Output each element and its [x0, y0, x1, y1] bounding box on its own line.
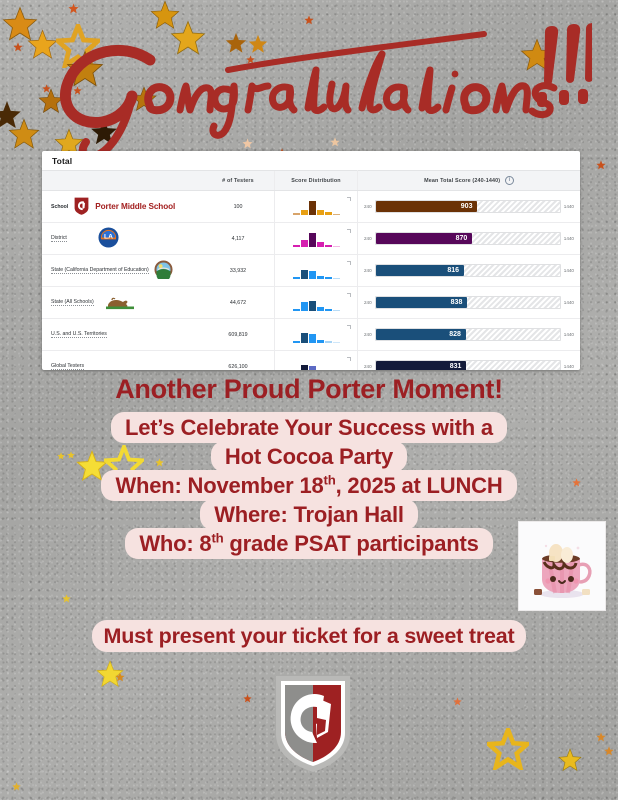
row-distribution: [275, 287, 358, 319]
score-report-card: Total # of Testers Score Distribution Me…: [42, 151, 580, 370]
distribution-mini-chart: [276, 230, 356, 247]
axis-min-label: 240: [364, 236, 372, 241]
mean-score-fill: 816: [376, 265, 464, 276]
table-row: U.S. and U.S. Territories 609,819: [42, 319, 580, 351]
gold-star-icon: [131, 86, 157, 112]
porter-shield-logo: [73, 196, 90, 218]
row-entity-cell: Global Testers: [42, 351, 202, 371]
report-title: Total: [42, 151, 580, 170]
detail-line-cocoa-party-text: Hot Cocoa Party: [211, 441, 407, 472]
gold-star-icon: [248, 34, 268, 54]
lausd-logo: LA: [98, 227, 119, 250]
gold-star-icon: [225, 32, 247, 54]
distribution-mini-chart: [276, 198, 356, 215]
col-header-entity: [42, 171, 202, 191]
when-ordinal-suffix: th: [324, 473, 336, 488]
axis-min-label: 240: [364, 268, 372, 273]
axis-max-label: 1440: [564, 332, 574, 337]
col-header-distribution: Score Distribution: [275, 171, 358, 191]
row-role-label[interactable]: State (California Department of Educatio…: [51, 267, 149, 274]
gold-star-icon: [520, 38, 554, 72]
when-suffix: , 2025 at LUNCH: [336, 473, 503, 498]
row-distribution: [275, 351, 358, 371]
congratulations-poster: Total # of Testers Score Distribution Me…: [0, 0, 618, 800]
row-mean-score: 240 903 1440: [358, 191, 581, 223]
col-header-mean-label: Mean Total Score (240-1440): [424, 178, 500, 184]
small-star-icon: [596, 732, 606, 742]
mean-score-fill: 870: [376, 233, 473, 244]
row-mean-score: 240 816 1440: [358, 255, 581, 287]
detail-line-when: When: November 18th, 2025 at LUNCH: [0, 473, 618, 500]
table-row: Global Testers 626,100: [42, 351, 580, 371]
mean-score-fill: 831: [376, 361, 467, 370]
detail-line-when-text: When: November 18th, 2025 at LUNCH: [101, 470, 516, 501]
axis-max-label: 1440: [564, 268, 574, 273]
row-mean-score: 240 870 1440: [358, 223, 581, 255]
mean-score-fill: 828: [376, 329, 466, 340]
gold-star-icon: [487, 728, 529, 770]
row-testers: 33,932: [202, 255, 275, 287]
axis-tick-icon: [347, 293, 351, 297]
detail-line-celebrate: Let’s Celebrate Your Success with a: [0, 415, 618, 442]
row-distribution: [275, 255, 358, 287]
detail-line-who-text: Who: 8th grade PSAT participants: [125, 528, 492, 559]
porter-trojan-shield-logo: [272, 672, 354, 776]
distribution-mini-chart: [276, 358, 356, 370]
table-row: School Porter Middle School 100: [42, 191, 580, 223]
small-star-icon: [243, 694, 252, 703]
axis-tick-icon: [347, 261, 351, 265]
gold-star-icon: [558, 748, 582, 772]
mean-score-track: 831: [375, 360, 561, 370]
row-testers: 4,117: [202, 223, 275, 255]
small-star-icon: [12, 782, 21, 791]
col-header-testers: # of Testers: [202, 171, 275, 191]
mean-score-fill: 903: [376, 201, 478, 212]
row-testers: 626,100: [202, 351, 275, 371]
score-report-table: # of Testers Score Distribution Mean Tot…: [42, 170, 580, 370]
row-entity-cell: State (California Department of Educatio…: [42, 255, 202, 287]
table-row: State (All Schools) 44,672: [42, 287, 580, 319]
mean-score-fill: 838: [376, 297, 468, 308]
row-entity-cell: State (All Schools): [42, 287, 202, 319]
detail-line-where-text: Where: Trojan Hall: [200, 499, 418, 530]
ticket-notice-text: Must present your ticket for a sweet tre…: [92, 620, 527, 652]
axis-max-label: 1440: [564, 204, 574, 209]
axis-max-label: 1440: [564, 300, 574, 305]
small-star-icon: [453, 697, 462, 706]
row-testers: 100: [202, 191, 275, 223]
row-role-label[interactable]: District: [51, 235, 67, 242]
row-role-label[interactable]: U.S. and U.S. Territories: [51, 331, 107, 338]
distribution-mini-chart: [276, 262, 356, 279]
axis-tick-icon: [347, 229, 351, 233]
row-testers: 609,819: [202, 319, 275, 351]
row-role-label[interactable]: State (All Schools): [51, 299, 94, 306]
col-header-mean-score: Mean Total Score (240-1440) i: [358, 171, 581, 191]
gold-star-icon: [8, 118, 40, 150]
axis-max-label: 1440: [564, 236, 574, 241]
small-star-icon: [242, 138, 253, 149]
who-suffix: grade PSAT participants: [224, 531, 479, 556]
when-prefix: When: November 18: [115, 473, 323, 498]
mean-score-track: 903: [375, 200, 561, 213]
small-star-icon: [330, 137, 340, 147]
mean-score-track: 816: [375, 264, 561, 277]
table-row: District LA: [42, 223, 580, 255]
mean-score-track: 838: [375, 296, 561, 309]
california-bear-logo: [105, 294, 135, 312]
row-entity-cell: School Porter Middle School: [42, 191, 202, 223]
axis-min-label: 240: [364, 204, 372, 209]
small-star-icon: [62, 594, 71, 603]
svg-text:LA: LA: [104, 233, 113, 240]
who-prefix: Who: 8: [139, 531, 211, 556]
axis-min-label: 240: [364, 300, 372, 305]
small-star-icon: [42, 84, 51, 93]
row-role-label[interactable]: Global Testers: [51, 363, 84, 370]
school-name: Porter Middle School: [95, 202, 175, 211]
row-entity-cell: U.S. and U.S. Territories: [42, 319, 202, 351]
table-header-row: # of Testers Score Distribution Mean Tot…: [42, 171, 580, 191]
small-star-icon: [604, 746, 614, 756]
small-star-icon: [13, 42, 23, 52]
gold-star-icon: [66, 50, 104, 88]
axis-min-label: 240: [364, 364, 372, 369]
info-icon[interactable]: i: [505, 176, 514, 185]
ticket-notice: Must present your ticket for a sweet tre…: [0, 624, 618, 649]
hot-cocoa-illustration: [518, 521, 606, 611]
gold-star-icon: [170, 20, 206, 56]
small-star-icon: [68, 3, 79, 14]
row-distribution: [275, 319, 358, 351]
page-title: Another Proud Porter Moment!: [0, 374, 618, 405]
table-body: School Porter Middle School 100: [42, 191, 580, 371]
row-role-label: School: [51, 204, 68, 210]
axis-tick-icon: [347, 197, 351, 201]
who-ordinal-suffix: th: [211, 531, 223, 546]
axis-max-label: 1440: [564, 364, 574, 369]
axis-tick-icon: [347, 325, 351, 329]
row-mean-score: 240 828 1440: [358, 319, 581, 351]
row-distribution: [275, 191, 358, 223]
small-star-icon: [115, 672, 125, 682]
detail-line-cocoa-party: Hot Cocoa Party: [0, 444, 618, 471]
dark-star-icon: [90, 118, 118, 146]
small-star-icon: [596, 160, 606, 170]
row-testers: 44,672: [202, 287, 275, 319]
distribution-mini-chart: [276, 326, 356, 343]
row-mean-score: 240 831 1440: [358, 351, 581, 371]
mean-score-track: 828: [375, 328, 561, 341]
table-row: State (California Department of Educatio…: [42, 255, 580, 287]
axis-min-label: 240: [364, 332, 372, 337]
cde-seal-logo: [154, 260, 173, 281]
gold-star-icon: [27, 29, 58, 60]
small-star-icon: [304, 15, 314, 25]
detail-line-celebrate-text: Let’s Celebrate Your Success with a: [111, 412, 507, 443]
small-star-icon: [73, 86, 82, 95]
row-entity-cell: District LA: [42, 223, 202, 255]
mean-score-track: 870: [375, 232, 561, 245]
row-mean-score: 240 838 1440: [358, 287, 581, 319]
distribution-mini-chart: [276, 294, 356, 311]
row-distribution: [275, 223, 358, 255]
axis-tick-icon: [347, 357, 351, 361]
small-star-icon: [246, 55, 255, 64]
